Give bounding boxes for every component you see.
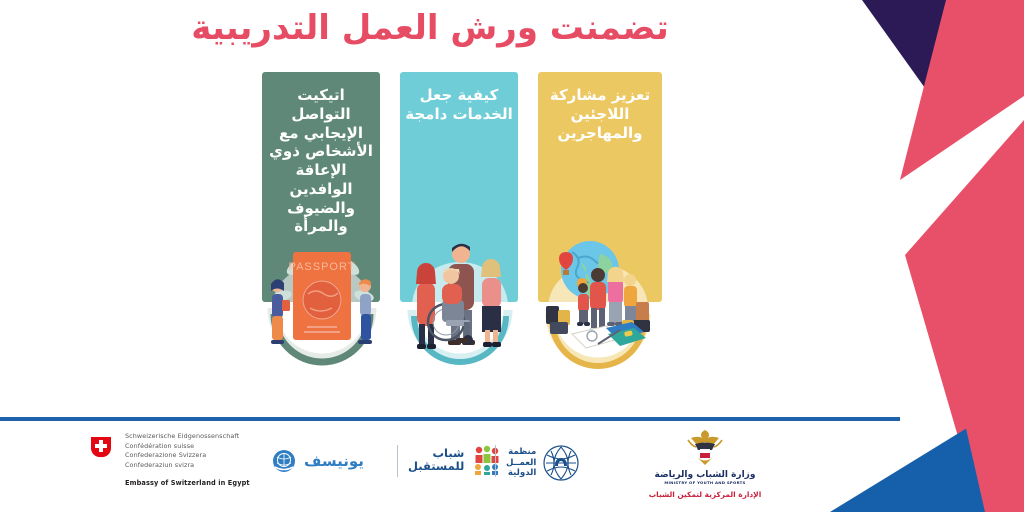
blue-triangle-lower-shape (830, 420, 1024, 512)
footer-divider (0, 417, 900, 421)
blue-triangle-shape (880, 430, 1024, 512)
red-chevron-shape (900, 0, 1024, 512)
swiss-line-fr: Confédération suisse (125, 442, 239, 452)
ilo-line1: منظمة (506, 447, 536, 457)
swiss-embassy-logo: Schweizerische Eidgenossenschaft Confédé… (88, 432, 250, 487)
ilo-line2: العمــل (506, 458, 536, 468)
svg-text:PASSPORT: PASSPORT (289, 261, 356, 273)
footer-logos: Schweizerische Eidgenossenschaft Confédé… (0, 425, 820, 505)
ilo-logo: منظمة العمــل الدولية (506, 444, 580, 482)
passport-book: PASSPORT (289, 252, 356, 340)
card-title-etiquette: اتيكيت التواصل الإيجابي مع الأشخاص ذوي ا… (266, 86, 376, 236)
infographic-canvas: تضمنت ورش العمل التدريبية اتيكيت التواصل… (0, 0, 1024, 512)
ilo-line3: الدولية (506, 468, 536, 478)
purple-triangle-shape (862, 0, 1024, 130)
youth-for-future-logo: شباب للمستقبل (408, 445, 501, 475)
workshop-cards: اتيكيت التواصل الإيجابي مع الأشخاص ذوي ا… (250, 72, 680, 382)
swiss-line-de: Schweizerische Eidgenossenschaft (125, 432, 239, 442)
swiss-cross-icon (88, 432, 114, 458)
people-wheelchair-group-illustration (390, 222, 530, 382)
youth-future-line2: للمستقبل (408, 460, 464, 473)
egypt-eagle-emblem-icon (682, 427, 728, 467)
red-band-shape (905, 0, 1024, 512)
page-title: تضمنت ورش العمل التدريبية (0, 8, 860, 49)
youth-people-icon (471, 445, 501, 475)
globe-family-luggage-documents-illustration (528, 222, 668, 382)
swiss-line-it: Confederazione Svizzera (125, 451, 239, 461)
logo-divider-2 (495, 445, 496, 477)
unicef-globe-icon (272, 449, 296, 473)
logo-divider-1 (397, 445, 398, 477)
unicef-logo: يونيسف (272, 449, 364, 473)
swiss-embassy-subtitle: Embassy of Switzerland in Egypt (125, 479, 250, 487)
swiss-line-rm: Confederaziun svizra (125, 461, 239, 471)
ministry-name-arabic: وزارة الشباب والرياضة (630, 470, 780, 480)
passport-globe-people-illustration: PASSPORT (252, 222, 392, 382)
ministry-department-arabic: الإدارة المركزية لتمكين الشباب (630, 490, 780, 499)
unicef-wordmark: يونيسف (304, 452, 364, 470)
ministry-of-youth-and-sports-logo: وزارة الشباب والرياضة MINISTRY OF YOUTH … (630, 427, 780, 499)
card-title-refugees: تعزيز مشاركة اللاجئين والمهاجرين (542, 86, 658, 142)
ilo-emblem-icon (542, 444, 580, 482)
ministry-name-english: MINISTRY OF YOUTH AND SPORTS (630, 480, 780, 485)
card-title-inclusive-services: كيفية جعل الخدمات دامجة (404, 86, 514, 124)
red-overlay-shape (930, 150, 1024, 512)
